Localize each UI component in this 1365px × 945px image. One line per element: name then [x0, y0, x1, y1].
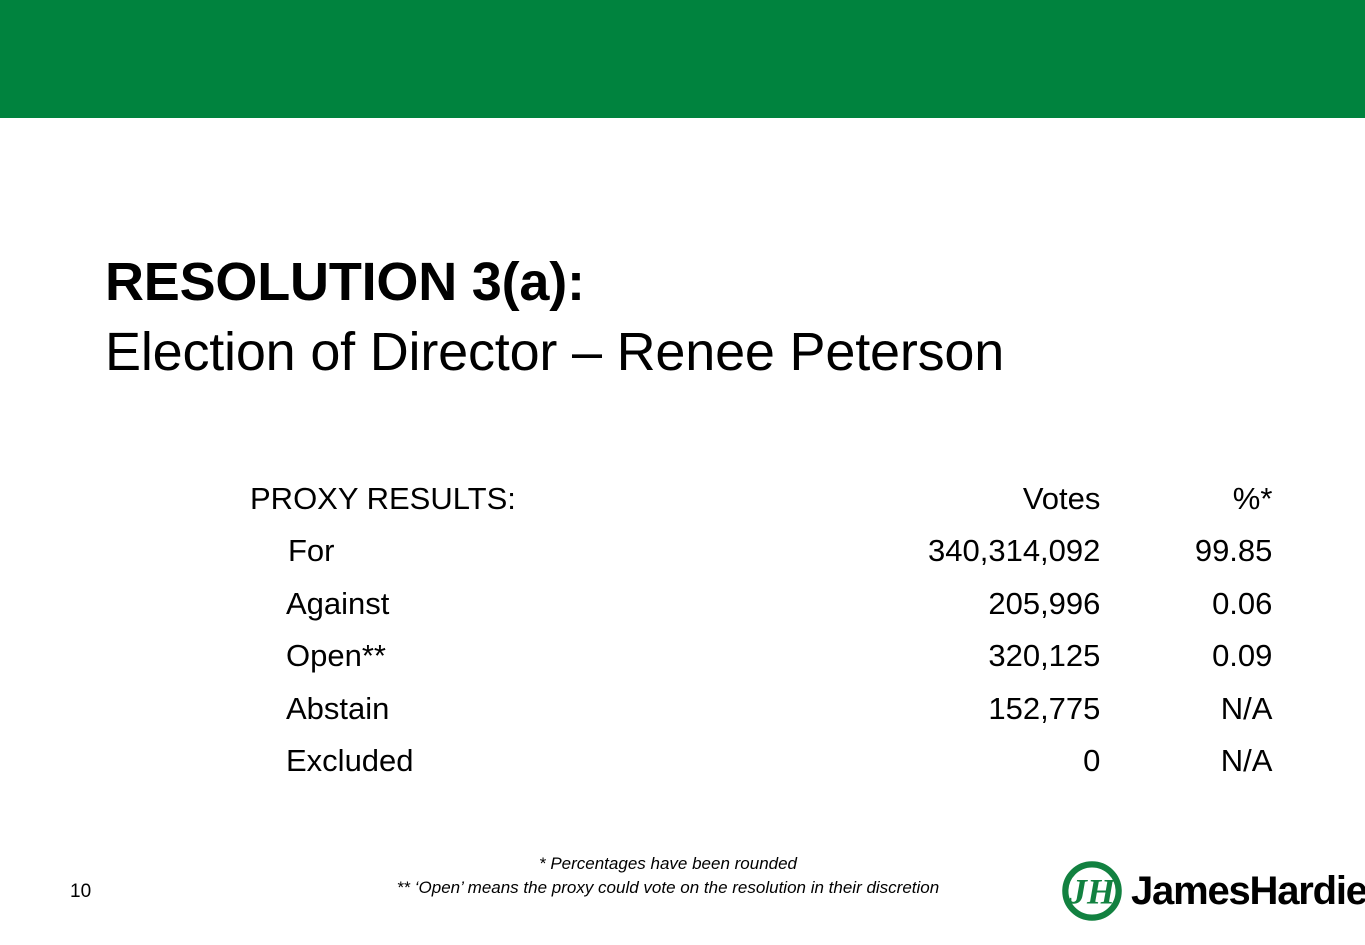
table-row: Excluded 0 N/A	[250, 735, 1272, 787]
slide: RESOLUTION 3(a): Election of Director – …	[0, 0, 1365, 945]
slide-title-block: RESOLUTION 3(a): Election of Director – …	[105, 248, 1225, 388]
header-green-band	[0, 0, 1365, 118]
row-percent-abstain: N/A	[1100, 683, 1272, 735]
table-row: Abstain 152,775 N/A	[250, 683, 1272, 735]
proxy-results-table: PROXY RESULTS: Votes %* For 340,314,092 …	[250, 473, 1272, 787]
row-percent-open: 0.09	[1100, 630, 1272, 682]
jh-monogram-icon: JH	[1061, 860, 1123, 922]
row-label-open: Open**	[250, 630, 928, 682]
row-percent-against: 0.06	[1100, 578, 1272, 630]
row-percent-for: 99.85	[1100, 525, 1272, 577]
table-row: Open** 320,125 0.09	[250, 630, 1272, 682]
row-votes-against: 205,996	[928, 578, 1100, 630]
row-votes-abstain: 152,775	[928, 683, 1100, 735]
jameshardie-logo: JH JamesHardie ™	[1061, 855, 1351, 927]
table-row: Against 205,996 0.06	[250, 578, 1272, 630]
footnote-percentages: * Percentages have been rounded	[188, 852, 1148, 876]
column-header-votes: Votes	[928, 473, 1100, 525]
row-label-abstain: Abstain	[250, 683, 928, 735]
footnotes: * Percentages have been rounded ** ‘Open…	[188, 852, 1148, 900]
table-row: For 340,314,092 99.85	[250, 525, 1272, 577]
column-header-percent: %*	[1100, 473, 1272, 525]
svg-text:JH: JH	[1068, 871, 1116, 911]
resolution-subheading: Election of Director – Renee Peterson	[105, 316, 1225, 388]
proxy-results-label: PROXY RESULTS:	[250, 473, 928, 525]
row-votes-excluded: 0	[928, 735, 1100, 787]
row-percent-excluded: N/A	[1100, 735, 1272, 787]
row-label-excluded: Excluded	[250, 735, 928, 787]
row-votes-for: 340,314,092	[928, 525, 1100, 577]
footnote-open-definition: ** ‘Open’ means the proxy could vote on …	[188, 876, 1148, 900]
jameshardie-wordmark-text: JamesHardie	[1131, 869, 1365, 913]
row-votes-open: 320,125	[928, 630, 1100, 682]
page-number: 10	[70, 881, 91, 903]
jameshardie-wordmark: JamesHardie ™	[1131, 869, 1365, 913]
table-header-row: PROXY RESULTS: Votes %*	[250, 473, 1272, 525]
row-label-for: For	[250, 525, 928, 577]
row-label-against: Against	[250, 578, 928, 630]
resolution-heading: RESOLUTION 3(a):	[105, 248, 1225, 316]
